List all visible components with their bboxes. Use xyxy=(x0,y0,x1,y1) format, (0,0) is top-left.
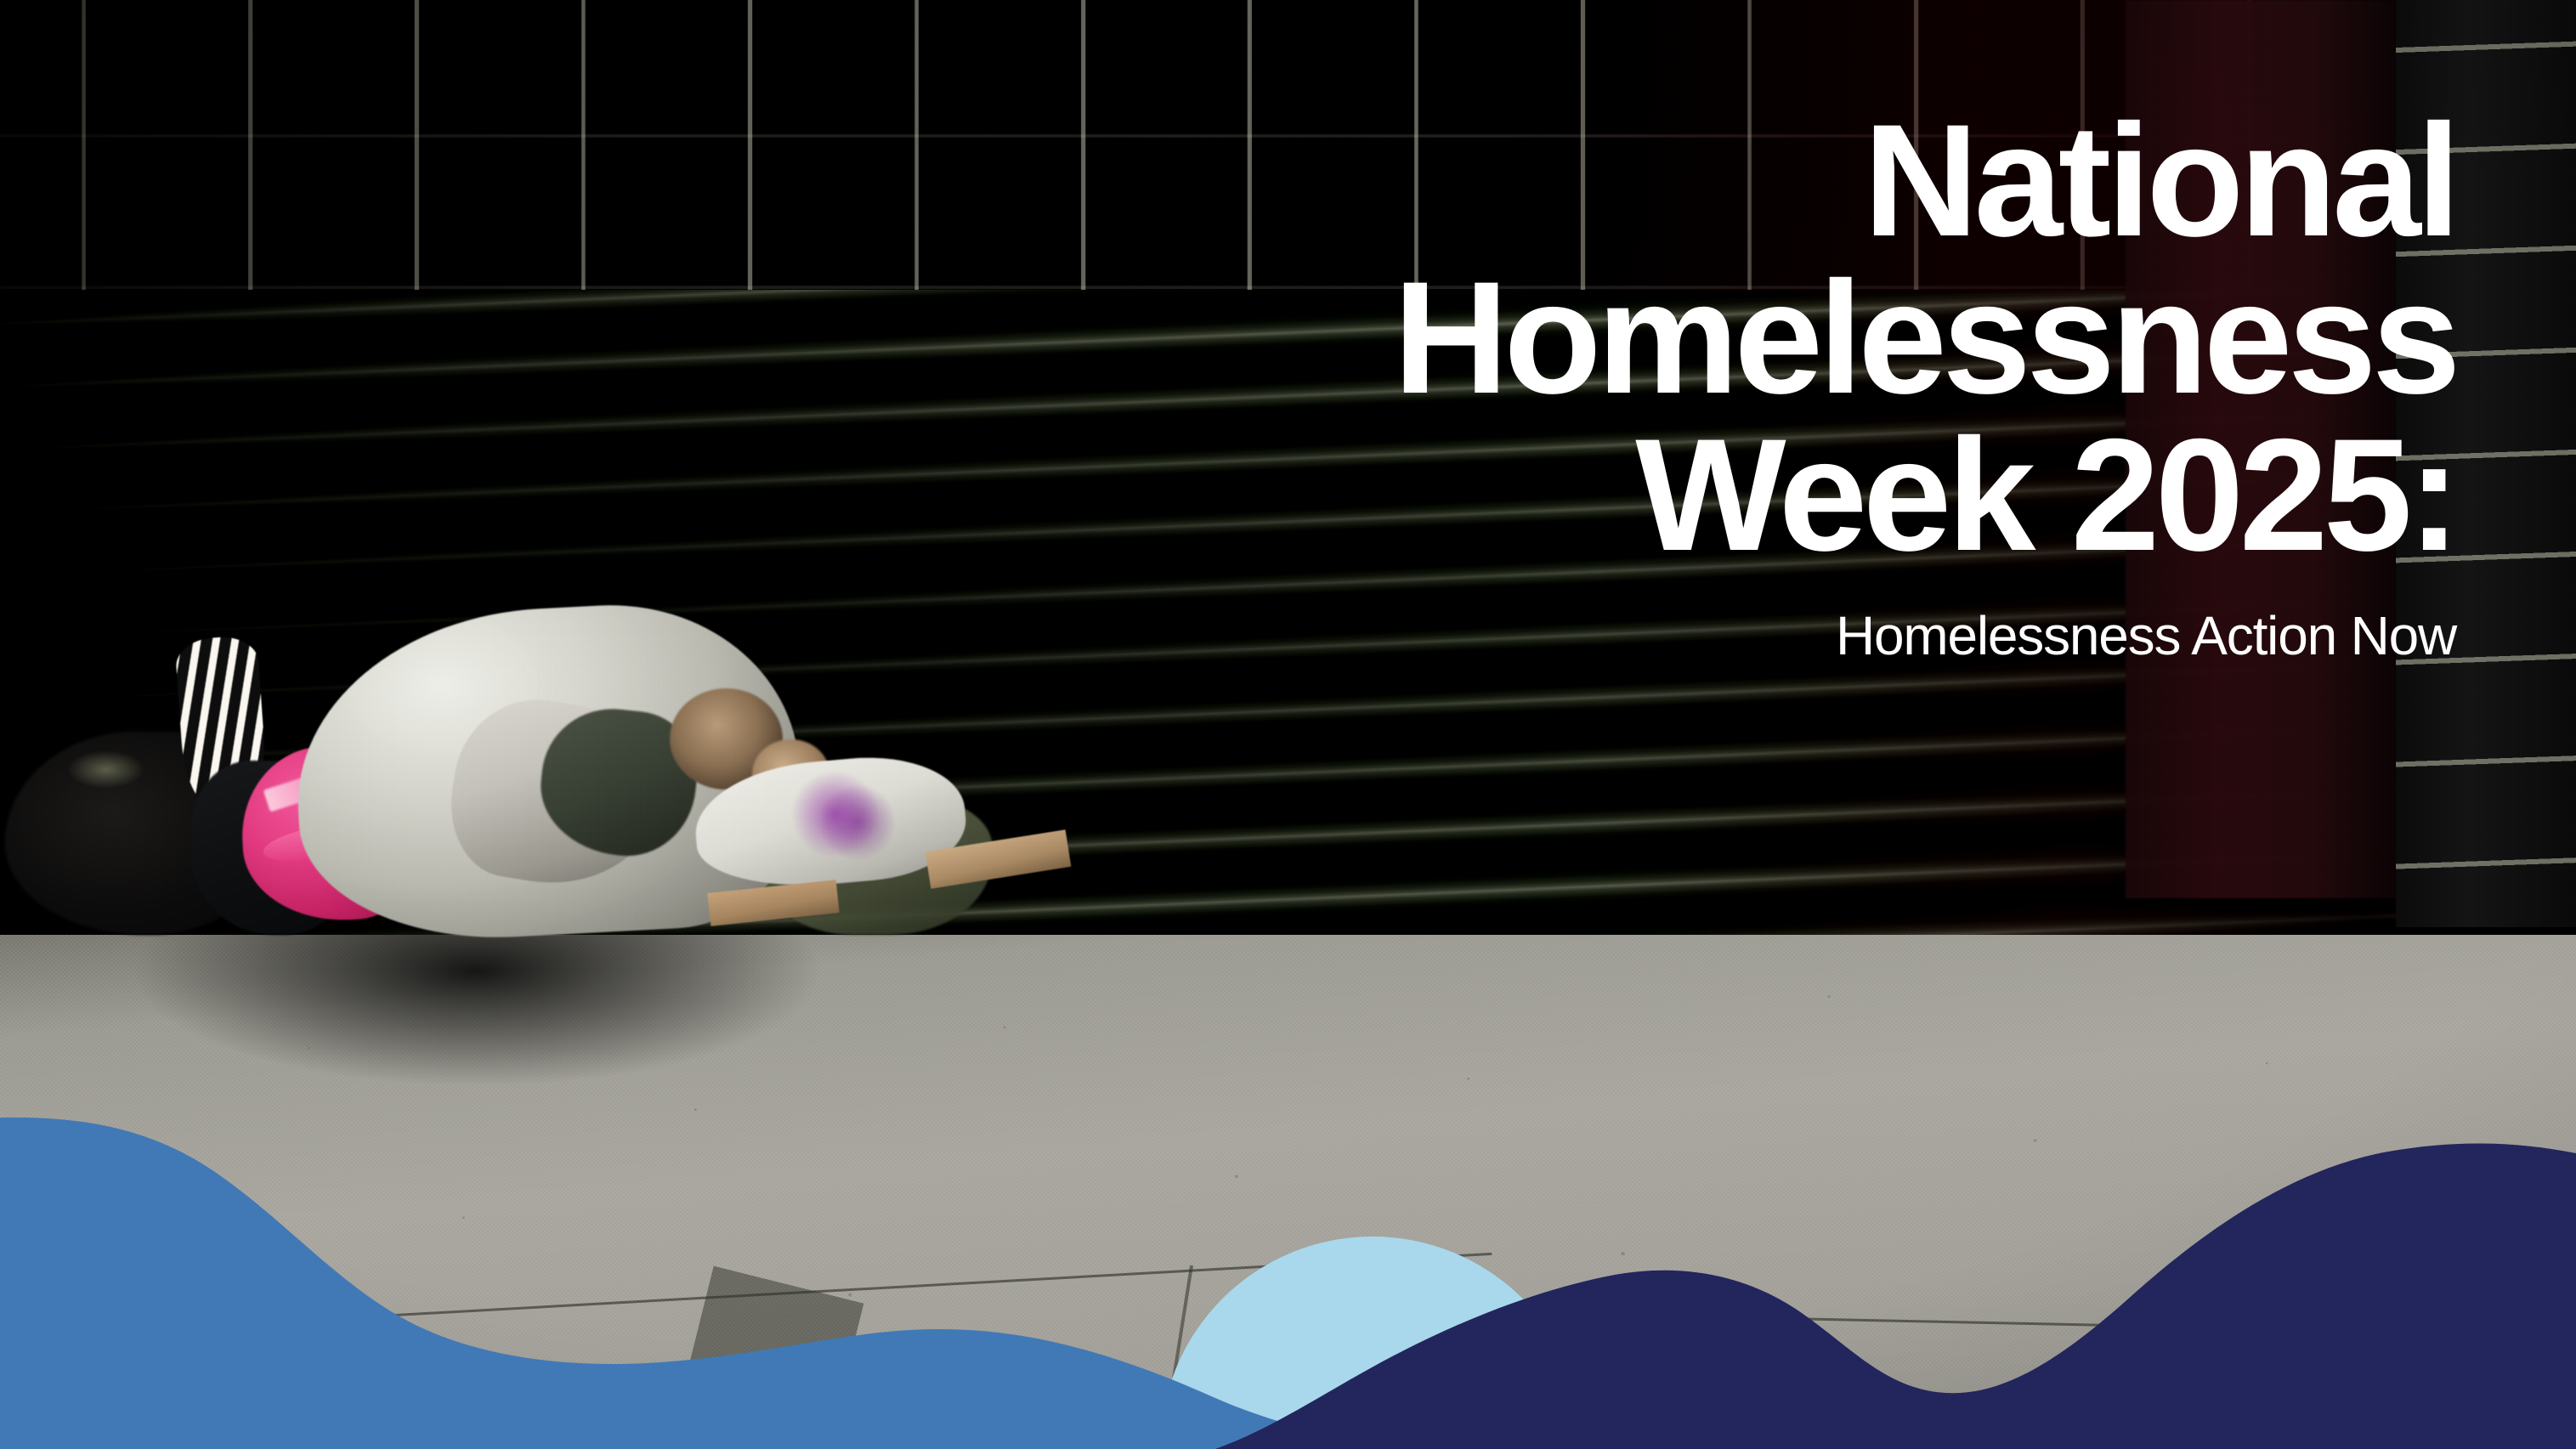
poster-canvas: National Homelessness Week 2025: Homeles… xyxy=(0,0,2576,1449)
wave-svg xyxy=(0,1075,2576,1449)
poster-subheadline: Homelessness Action Now xyxy=(994,608,2456,663)
poster-text-block: National Homelessness Week 2025: Homeles… xyxy=(994,102,2456,663)
headline-line-3: Week 2025: xyxy=(994,416,2456,574)
headline-line-1: National xyxy=(994,102,2456,259)
duffel-bag-highlight xyxy=(67,750,144,788)
headline-line-2: Homelessness xyxy=(994,259,2456,416)
poster-headline: National Homelessness Week 2025: xyxy=(994,102,2456,575)
decorative-wave-group xyxy=(0,1075,2576,1449)
